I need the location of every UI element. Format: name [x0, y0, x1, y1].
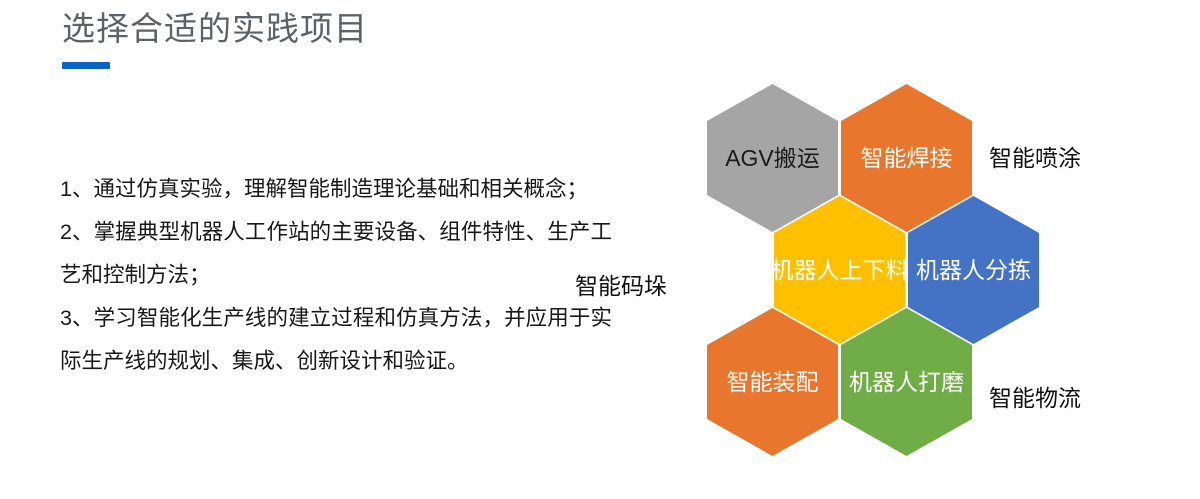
side-label-smart-palletizing: 智能码垛: [575, 271, 667, 301]
hexagon-label-robot-sorting: 机器人分拣: [902, 254, 1045, 287]
hexagon-label-robot-grinding: 机器人打磨: [835, 366, 978, 399]
page-title: 选择合适的实践项目: [62, 8, 622, 50]
hexagon-label-agv-transport: AGV搬运: [711, 142, 834, 175]
body-paragraph-2: 2、掌握典型机器人工作站的主要设备、组件特性、生产工艺和控制方法；: [60, 211, 612, 297]
slide-canvas: 选择合适的实践项目 1、通过仿真实验，理解智能制造理论基础和相关概念； 2、掌握…: [0, 0, 1200, 499]
body-text-block: 1、通过仿真实验，理解智能制造理论基础和相关概念； 2、掌握典型机器人工作站的主…: [60, 168, 612, 383]
body-paragraph-3: 3、学习智能化生产线的建立过程和仿真方法，并应用于实际生产线的规划、集成、创新设…: [60, 297, 612, 383]
hexagon-label-smart-assembly: 智能装配: [713, 366, 833, 399]
hexagon-label-smart-welding: 智能焊接: [847, 142, 967, 175]
body-paragraph-1: 1、通过仿真实验，理解智能制造理论基础和相关概念；: [60, 168, 612, 211]
title-accent-bar: [62, 62, 110, 69]
honeycomb-diagram: AGV搬运 智能焊接 机器人上下料 机器人分拣 智能装配 机器人打磨 智能喷涂 …: [645, 78, 1185, 493]
side-label-smart-logistics: 智能物流: [989, 383, 1081, 413]
title-block: 选择合适的实践项目: [62, 8, 622, 69]
side-label-smart-spraying: 智能喷涂: [989, 143, 1081, 173]
hexagon-label-robot-loading-unloading: 机器人上下料: [757, 254, 923, 287]
